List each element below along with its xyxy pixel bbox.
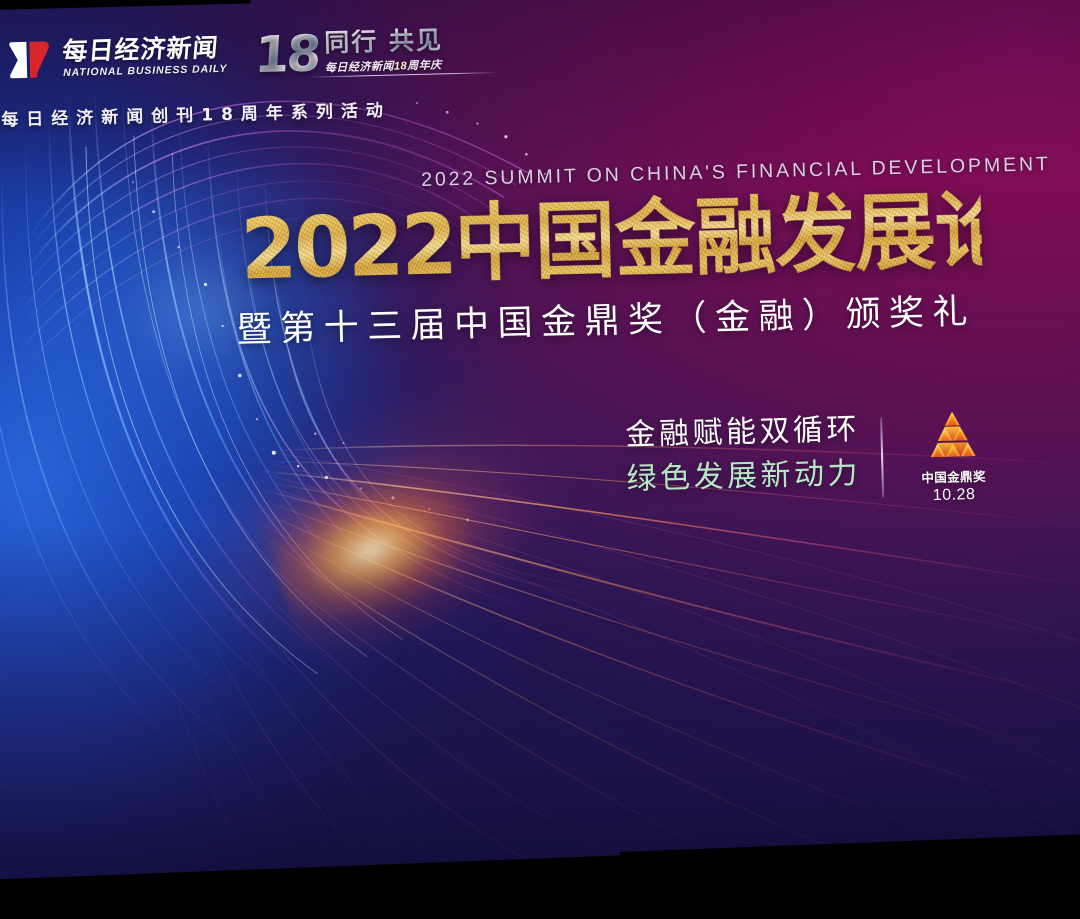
award-date: 10.28 xyxy=(916,486,992,506)
slogan-block: 金融赋能双循环 绿色发展新动力 xyxy=(625,408,862,502)
series-event-line: 每日经济新闻创刊18周年系列活动 xyxy=(1,96,391,131)
main-title: 2022中国金融发展论坛 xyxy=(240,187,983,294)
nbd-logo[interactable]: 每日经济新闻 NATIONAL BUSINESS DAILY xyxy=(7,32,227,84)
anniversary-tagline: 同行 共见 xyxy=(324,27,443,55)
poster-artboard: 每日经济新闻 NATIONAL BUSINESS DAILY 18 同行 共见 … xyxy=(0,0,1080,919)
background-bottom-shade xyxy=(0,500,1080,919)
slogan-line-2: 绿色发展新动力 xyxy=(626,452,862,502)
anniversary-logo[interactable]: 18 同行 共见 每日经济新闻18周年庆 xyxy=(254,27,443,77)
slogan-line-1: 金融赋能双循环 xyxy=(625,408,861,458)
main-title-year: 2022 xyxy=(239,195,455,298)
logo-row: 每日经济新闻 NATIONAL BUSINESS DAILY 18 同行 共见 … xyxy=(7,26,444,83)
anniversary-caption-prefix: 每日经济新闻 xyxy=(325,61,394,75)
nbd-logo-text: 每日经济新闻 NATIONAL BUSINESS DAILY xyxy=(62,35,227,79)
nbd-chinese-name: 每日经济新闻 xyxy=(62,35,228,64)
anniversary-caption-suffix: 周年庆 xyxy=(407,59,442,72)
golden-tripod-award-triangle-icon xyxy=(914,409,991,463)
anniversary-caption-number: 18 xyxy=(394,60,408,72)
anniversary-caption: 每日经济新闻18周年庆 xyxy=(325,56,444,75)
anniversary-text: 同行 共见 每日经济新闻18周年庆 xyxy=(324,27,444,75)
poster-canvas: 每日经济新闻 NATIONAL BUSINESS DAILY 18 同行 共见 … xyxy=(0,0,1080,919)
main-title-chinese: 中国金融发展论坛 xyxy=(453,179,1080,293)
award-name: 中国金鼎奖 xyxy=(915,466,991,487)
nbd-english-name: NATIONAL BUSINESS DAILY xyxy=(63,64,227,79)
nbd-monogram-icon xyxy=(7,36,54,83)
anniversary-number: 18 xyxy=(254,32,320,77)
award-emblem[interactable]: 中国金鼎奖 10.28 xyxy=(914,409,992,506)
